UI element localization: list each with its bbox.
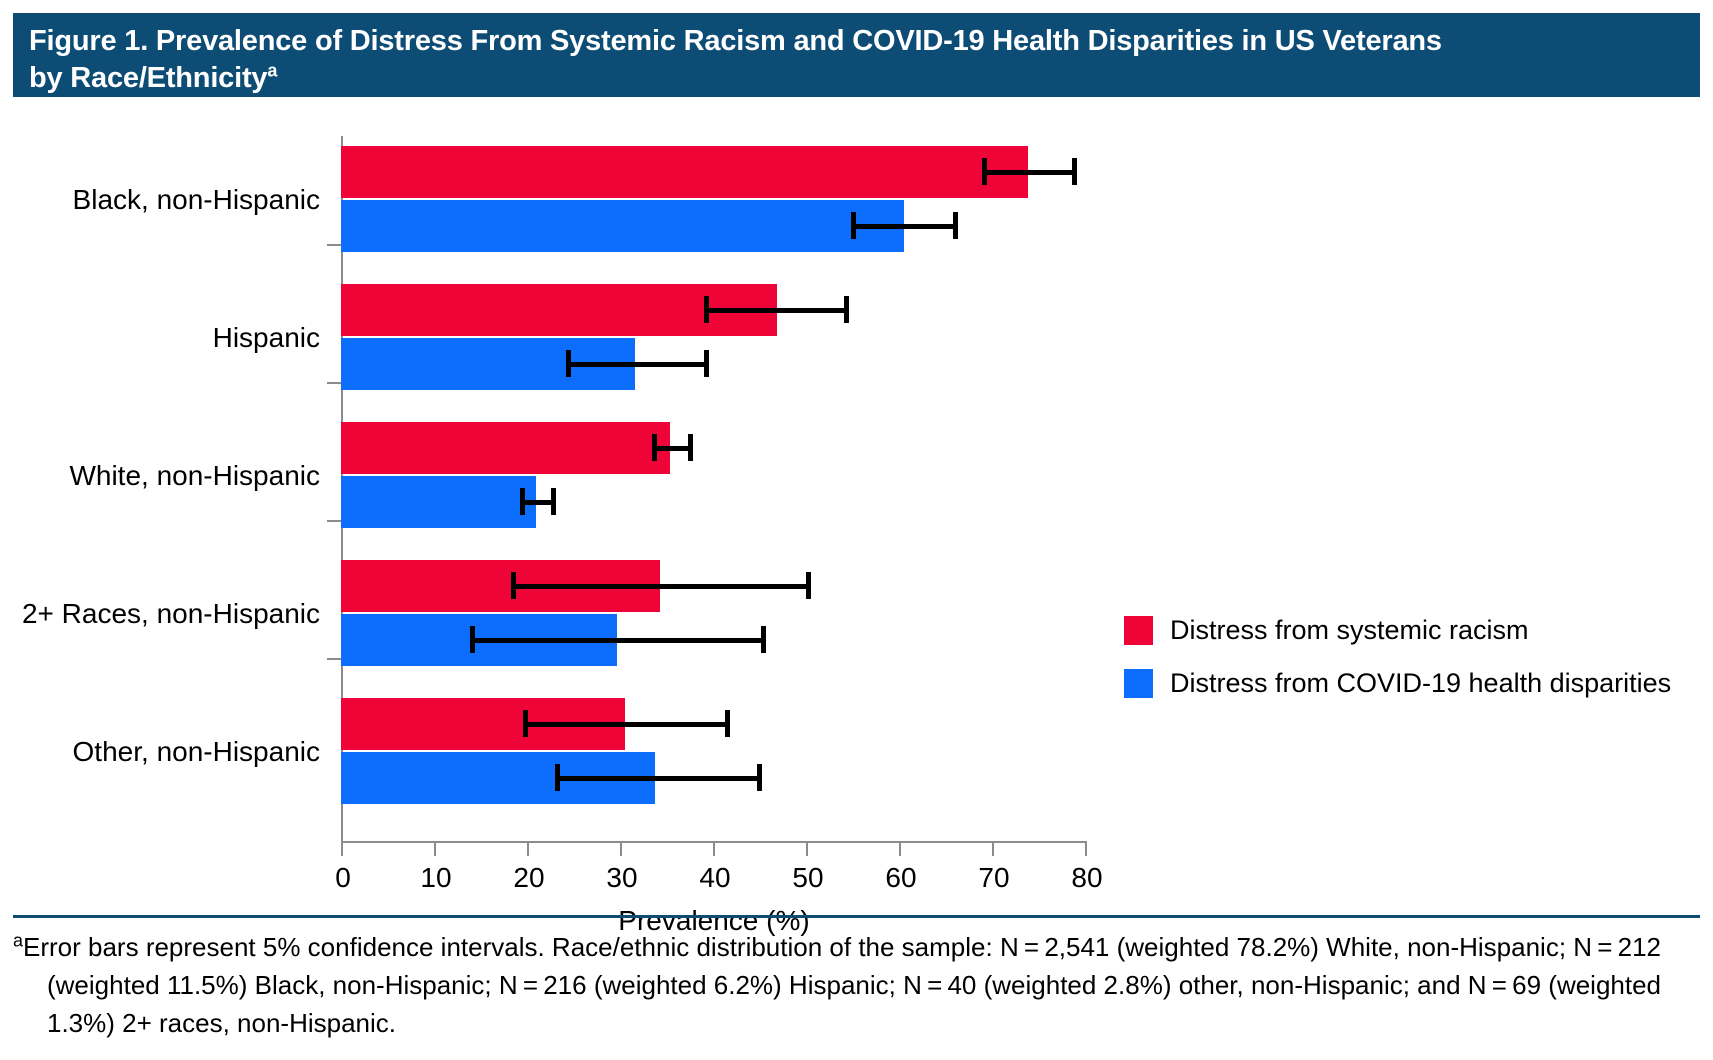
- y-tick-1: [327, 244, 342, 246]
- category-label-0: Black, non-Hispanic: [0, 184, 320, 216]
- x-tick-50: [806, 843, 808, 856]
- x-tick-60: [899, 843, 901, 856]
- x-tick-label-10: 10: [406, 862, 466, 894]
- error-cap-3-0-low: [511, 572, 516, 599]
- error-bar-1-1: [566, 362, 704, 367]
- x-tick-label-60: 60: [871, 862, 931, 894]
- legend-swatch-red-icon: [1124, 616, 1153, 645]
- figure-title-banner: Figure 1. Prevalence of Distress From Sy…: [13, 13, 1700, 97]
- error-cap-4-0-low: [523, 710, 528, 737]
- error-cap-3-1-high: [761, 626, 766, 653]
- category-label-3: 2+ Races, non-Hispanic: [0, 598, 320, 630]
- error-cap-0-0-high: [1072, 158, 1077, 185]
- x-tick-40: [713, 843, 715, 856]
- legend-label-systemic-racism: Distress from systemic racism: [1170, 615, 1529, 646]
- error-bar-4-0: [523, 722, 725, 727]
- error-cap-1-1-high: [704, 350, 709, 377]
- y-tick-4: [327, 658, 342, 660]
- error-cap-2-1-low: [520, 488, 525, 515]
- footnote-text: Error bars represent 5% confidence inter…: [23, 932, 1661, 1038]
- error-bar-3-0: [511, 584, 806, 589]
- x-tick-label-70: 70: [964, 862, 1024, 894]
- category-label-4: Other, non-Hispanic: [0, 736, 320, 768]
- bar-0-0: [341, 146, 1028, 198]
- error-bar-3-1: [470, 638, 761, 643]
- y-tick-3: [327, 520, 342, 522]
- x-tick-label-80: 80: [1057, 862, 1117, 894]
- figure-title-footnote-marker: a: [267, 60, 277, 80]
- legend-item-systemic-racism: Distress from systemic racism: [1124, 615, 1671, 646]
- error-cap-0-1-low: [851, 212, 856, 239]
- x-tick-10: [434, 843, 436, 856]
- category-label-2: White, non-Hispanic: [0, 460, 320, 492]
- x-tick-20: [527, 843, 529, 856]
- x-tick-label-0: 0: [313, 862, 373, 894]
- x-tick-80: [1085, 843, 1087, 856]
- x-tick-70: [992, 843, 994, 856]
- category-label-1: Hispanic: [0, 322, 320, 354]
- footnote-divider: [13, 915, 1700, 918]
- error-bar-0-0: [982, 170, 1072, 175]
- error-cap-1-1-low: [566, 350, 571, 377]
- y-tick-2: [327, 382, 342, 384]
- footnote-marker: a: [13, 930, 23, 950]
- error-cap-2-1-high: [551, 488, 556, 515]
- error-cap-3-1-low: [470, 626, 475, 653]
- error-bar-1-0: [704, 308, 844, 313]
- error-cap-1-0-high: [844, 296, 849, 323]
- error-cap-0-0-low: [982, 158, 987, 185]
- legend-swatch-blue-icon: [1124, 669, 1153, 698]
- error-cap-3-0-high: [806, 572, 811, 599]
- figure-title-line-1: Figure 1. Prevalence of Distress From Sy…: [29, 25, 1442, 57]
- error-cap-4-1-low: [555, 764, 560, 791]
- bar-2-0: [341, 422, 670, 474]
- error-cap-2-0-high: [688, 434, 693, 461]
- x-tick-label-40: 40: [685, 862, 745, 894]
- x-tick-label-20: 20: [499, 862, 559, 894]
- error-cap-4-0-high: [725, 710, 730, 737]
- error-cap-1-0-low: [704, 296, 709, 323]
- x-tick-30: [620, 843, 622, 856]
- chart-legend: Distress from systemic racism Distress f…: [1124, 615, 1671, 721]
- legend-label-covid-disparities: Distress from COVID-19 health disparitie…: [1170, 668, 1671, 699]
- x-tick-0: [341, 843, 343, 856]
- figure-title-line-2: by Race/Ethnicity: [29, 62, 267, 94]
- error-cap-2-0-low: [652, 434, 657, 461]
- legend-item-covid-disparities: Distress from COVID-19 health disparitie…: [1124, 668, 1671, 699]
- error-bar-0-1: [851, 224, 953, 229]
- error-bar-2-0: [652, 446, 688, 451]
- error-bar-4-1: [555, 776, 757, 781]
- footnote: aError bars represent 5% confidence inte…: [13, 928, 1703, 1042]
- bar-2-1: [341, 476, 536, 528]
- error-cap-0-1-high: [953, 212, 958, 239]
- x-tick-label-30: 30: [592, 862, 652, 894]
- x-tick-label-50: 50: [778, 862, 838, 894]
- bar-0-1: [341, 200, 904, 252]
- chart-canvas: 01020304050607080 Black, non-HispanicHis…: [0, 100, 1713, 910]
- error-cap-4-1-high: [757, 764, 762, 791]
- page-title: Figure 1. Prevalence of Distress From Sy…: [29, 23, 1684, 97]
